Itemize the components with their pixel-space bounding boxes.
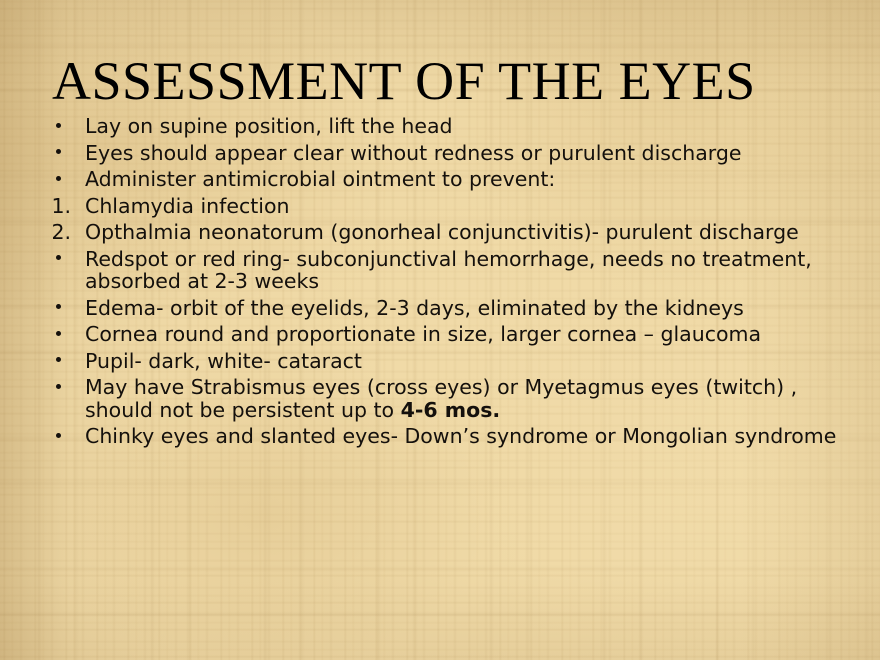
- list-bullet-icon: [0, 376, 75, 396]
- list-number-marker: 1.: [0, 195, 85, 218]
- list-bullet-icon: [0, 323, 75, 343]
- list-item-text: Administer antimicrobial ointment to pre…: [85, 168, 852, 191]
- list-bullet-icon: [0, 115, 75, 135]
- list-item-text: Opthalmia neonatorum (gonorheal conjunct…: [85, 221, 852, 244]
- list-item-text: Lay on supine position, lift the head: [85, 115, 852, 138]
- list-bullet-icon: [0, 248, 75, 268]
- presentation-slide: ASSESSMENT OF THE EYES Lay on supine pos…: [0, 0, 880, 660]
- numbered-list-item: 2.Opthalmia neonatorum (gonorheal conjun…: [0, 221, 880, 244]
- slide-title: ASSESSMENT OF THE EYES: [52, 52, 842, 110]
- emphasis-text: 4-6 mos.: [401, 398, 501, 422]
- list-item-text: Pupil- dark, white- cataract: [85, 350, 852, 373]
- bullet-list-item: Edema- orbit of the eyelids, 2-3 days, e…: [0, 297, 880, 320]
- numbered-list-item: 1.Chlamydia infection: [0, 195, 880, 218]
- list-bullet-icon: [0, 350, 75, 370]
- bullet-list-item: Redspot or red ring- subconjunctival hem…: [0, 248, 880, 293]
- bullet-list-item: Cornea round and proportionate in size, …: [0, 323, 880, 346]
- list-item-text: Edema- orbit of the eyelids, 2-3 days, e…: [85, 297, 852, 320]
- slide-bullet-list: Lay on supine position, lift the headEye…: [0, 115, 880, 452]
- list-bullet-icon: [0, 297, 75, 317]
- list-item-text: May have Strabismus eyes (cross eyes) or…: [85, 376, 852, 421]
- list-item-text: Chlamydia infection: [85, 195, 852, 218]
- bullet-list-item: Chinky eyes and slanted eyes- Down’s syn…: [0, 425, 880, 448]
- bullet-list-item: Eyes should appear clear without redness…: [0, 142, 880, 165]
- list-bullet-icon: [0, 425, 75, 445]
- list-number-marker: 2.: [0, 221, 85, 244]
- bullet-list-item: Lay on supine position, lift the head: [0, 115, 880, 138]
- list-item-text: Eyes should appear clear without redness…: [85, 142, 852, 165]
- list-item-text: Cornea round and proportionate in size, …: [85, 323, 852, 346]
- list-item-text: Chinky eyes and slanted eyes- Down’s syn…: [85, 425, 852, 448]
- bullet-list-item: Pupil- dark, white- cataract: [0, 350, 880, 373]
- list-item-text: Redspot or red ring- subconjunctival hem…: [85, 248, 852, 293]
- bullet-list-item: Administer antimicrobial ointment to pre…: [0, 168, 880, 191]
- slide-content: ASSESSMENT OF THE EYES Lay on supine pos…: [0, 0, 880, 660]
- list-bullet-icon: [0, 142, 75, 162]
- bullet-list-item: May have Strabismus eyes (cross eyes) or…: [0, 376, 880, 421]
- list-bullet-icon: [0, 168, 75, 188]
